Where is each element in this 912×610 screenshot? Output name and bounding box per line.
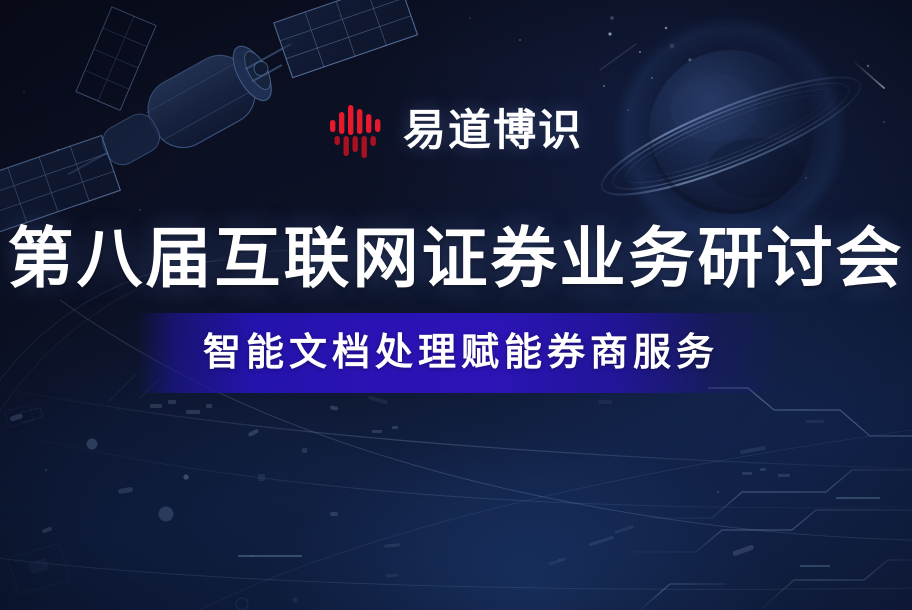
subtitle-banner: 智能文档处理赋能券商服务 <box>137 313 785 393</box>
brand-lockup: 易道博识 <box>0 100 912 162</box>
soundwave-bars-logo-icon <box>329 103 387 159</box>
page-title: 第八届互联网证券业务研讨会 <box>0 224 912 294</box>
subtitle-text: 智能文档处理赋能券商服务 <box>203 334 719 372</box>
poster-content: 易道博识 第八届互联网证券业务研讨会 智能文档处理赋能券商服务 <box>0 0 912 610</box>
event-poster: 易道博识 第八届互联网证券业务研讨会 智能文档处理赋能券商服务 <box>0 0 912 610</box>
brand-name: 易道博识 <box>403 110 583 153</box>
